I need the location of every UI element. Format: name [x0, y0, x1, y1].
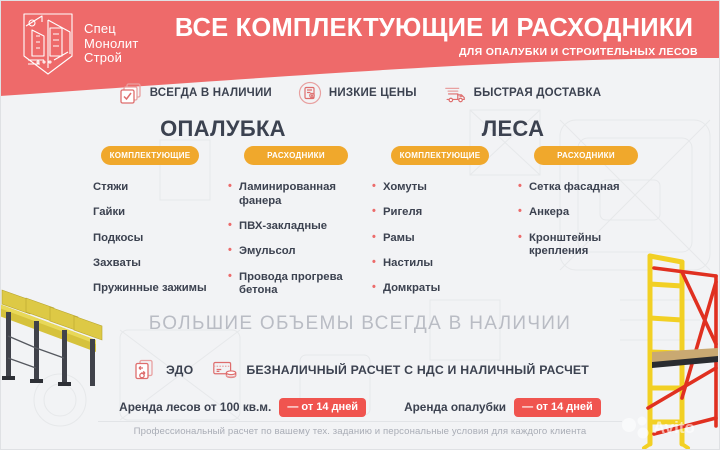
- group-title: ЛЕСА: [372, 112, 654, 146]
- list-item: Пружинные зажимы: [82, 282, 218, 296]
- feature-label: НИЗКИЕ ЦЕНЫ: [329, 87, 417, 99]
- list-item: Ламинированная фанера: [228, 181, 364, 209]
- list-item: Эмульсол: [228, 245, 364, 259]
- payment-cash-and-invoice: БЕЗНАЛИЧНЫЙ РАСЧЕТ С НДС И НАЛИЧНЫЙ РАСЧ…: [211, 358, 589, 382]
- footer-note: Профессиональный расчет по вашему тех. з…: [0, 426, 720, 437]
- badge-components: КОМПЛЕКТУЮЩИЕ: [391, 146, 489, 165]
- feature-in-stock: ВСЕГДА В НАЛИЧИИ: [119, 81, 272, 105]
- list-item: ПВХ-закладные: [228, 220, 364, 234]
- logo[interactable]: Спец Монолит Строй: [18, 8, 158, 80]
- page-title: ВСЕ КОМПЛЕКТУЮЩИЕ И РАСХОДНИКИ: [160, 14, 708, 43]
- list-item: Ригеля: [372, 206, 508, 220]
- payment-label: БЕЗНАЛИЧНЫЙ РАСЧЕТ С НДС И НАЛИЧНЫЙ РАСЧ…: [246, 363, 589, 377]
- badge-components: КОМПЛЕКТУЮЩИЕ: [101, 146, 199, 165]
- item-list-consumables: Ламинированная фанера ПВХ-закладные Эмул…: [228, 181, 364, 298]
- payment-label: ЭДО: [166, 363, 193, 377]
- item-list-components: Хомуты Ригеля Рамы Настилы Домкраты: [372, 181, 508, 296]
- item-list-components: Стяжи Гайки Подкосы Захваты Пружинные за…: [82, 181, 218, 296]
- rental-terms: Аренда лесов от 100 кв.м. — от 14 дней А…: [0, 396, 720, 418]
- feature-badges: ВСЕГДА В НАЛИЧИИ НИЗКИЕ ЦЕНЫ: [0, 78, 720, 108]
- volumes-banner: БОЛЬШИЕ ОБЪЕМЫ ВСЕГДА В НАЛИЧИИ: [0, 313, 720, 335]
- group-lesa: ЛЕСА КОМПЛЕКТУЮЩИЕ Хомуты Ригеля Рамы На…: [372, 112, 654, 307]
- feature-low-prices: НИЗКИЕ ЦЕНЫ: [298, 81, 417, 105]
- list-item: Провода прогрева бетона: [228, 271, 364, 299]
- list-item: Кронштейны крепления: [518, 232, 654, 260]
- subcolumn-components: КОМПЛЕКТУЮЩИЕ Хомуты Ригеля Рамы Настилы…: [372, 146, 508, 307]
- payment-edo: ЭДО: [131, 358, 193, 382]
- rental-formwork: Аренда опалубки — от 14 дней: [404, 398, 601, 417]
- feature-label: ВСЕГДА В НАЛИЧИИ: [150, 87, 272, 99]
- product-groups: ОПАЛУБКА КОМПЛЕКТУЮЩИЕ Стяжи Гайки Подко…: [0, 112, 720, 312]
- logo-line-2: Монолит: [84, 37, 139, 52]
- building-crane-shield-icon: [18, 10, 78, 78]
- page-subtitle: ДЛЯ ОПАЛУБКИ И СТРОИТЕЛЬНЫХ ЛЕСОВ: [160, 46, 708, 58]
- subcolumn-consumables: РАСХОДНИКИ Ламинированная фанера ПВХ-зак…: [228, 146, 364, 310]
- list-item: Анкера: [518, 206, 654, 220]
- group-opalubka: ОПАЛУБКА КОМПЛЕКТУЮЩИЕ Стяжи Гайки Подко…: [82, 112, 364, 310]
- rental-text: Аренда опалубки: [404, 400, 506, 414]
- group-title: ОПАЛУБКА: [82, 112, 364, 146]
- logo-line-3: Строй: [84, 51, 139, 66]
- list-item: Рамы: [372, 232, 508, 246]
- promo-banner: Спец Монолит Строй ВСЕ КОМПЛЕКТУЮЩИЕ И Р…: [0, 0, 720, 450]
- item-list-consumables: Сетка фасадная Анкера Кронштейны креплен…: [518, 181, 654, 259]
- rental-scaffolding: Аренда лесов от 100 кв.м. — от 14 дней: [119, 398, 366, 417]
- list-item: Домкраты: [372, 282, 508, 296]
- list-item: Подкосы: [82, 232, 218, 246]
- rental-badge: — от 14 дней: [279, 398, 366, 417]
- subcolumn-components: КОМПЛЕКТУЮЩИЕ Стяжи Гайки Подкосы Захват…: [82, 146, 218, 310]
- subcolumn-consumables: РАСХОДНИКИ Сетка фасадная Анкера Кронште…: [518, 146, 654, 307]
- card-and-coins-icon: [211, 358, 239, 382]
- delivery-truck-icon: [443, 81, 467, 105]
- feature-fast-delivery: БЫСТРАЯ ДОСТАВКА: [443, 81, 602, 105]
- feature-label: БЫСТРАЯ ДОСТАВКА: [474, 87, 602, 99]
- logo-text: Спец Монолит Строй: [84, 22, 139, 66]
- payment-methods: ЭДО БЕЗНАЛИЧНЫЙ РАСЧЕТ С НДС И НАЛИЧНЫЙ …: [0, 355, 720, 385]
- rental-badge: — от 14 дней: [514, 398, 601, 417]
- checkbox-stack-icon: [119, 81, 143, 105]
- logo-line-1: Спец: [84, 22, 139, 37]
- document-exchange-icon: [131, 358, 159, 382]
- badge-consumables: РАСХОДНИКИ: [534, 146, 638, 165]
- badge-consumables: РАСХОДНИКИ: [244, 146, 348, 165]
- svg-text:Avito: Avito: [653, 418, 695, 437]
- list-item: Хомуты: [372, 181, 508, 195]
- avito-watermark: Avito: [620, 412, 716, 442]
- list-item: Захваты: [82, 257, 218, 271]
- footer-divider: [98, 421, 622, 422]
- rental-text: Аренда лесов от 100 кв.м.: [119, 400, 271, 414]
- list-item: Гайки: [82, 206, 218, 220]
- price-tag-circle-icon: [298, 81, 322, 105]
- list-item: Сетка фасадная: [518, 181, 654, 195]
- list-item: Стяжи: [82, 181, 218, 195]
- list-item: Настилы: [372, 257, 508, 271]
